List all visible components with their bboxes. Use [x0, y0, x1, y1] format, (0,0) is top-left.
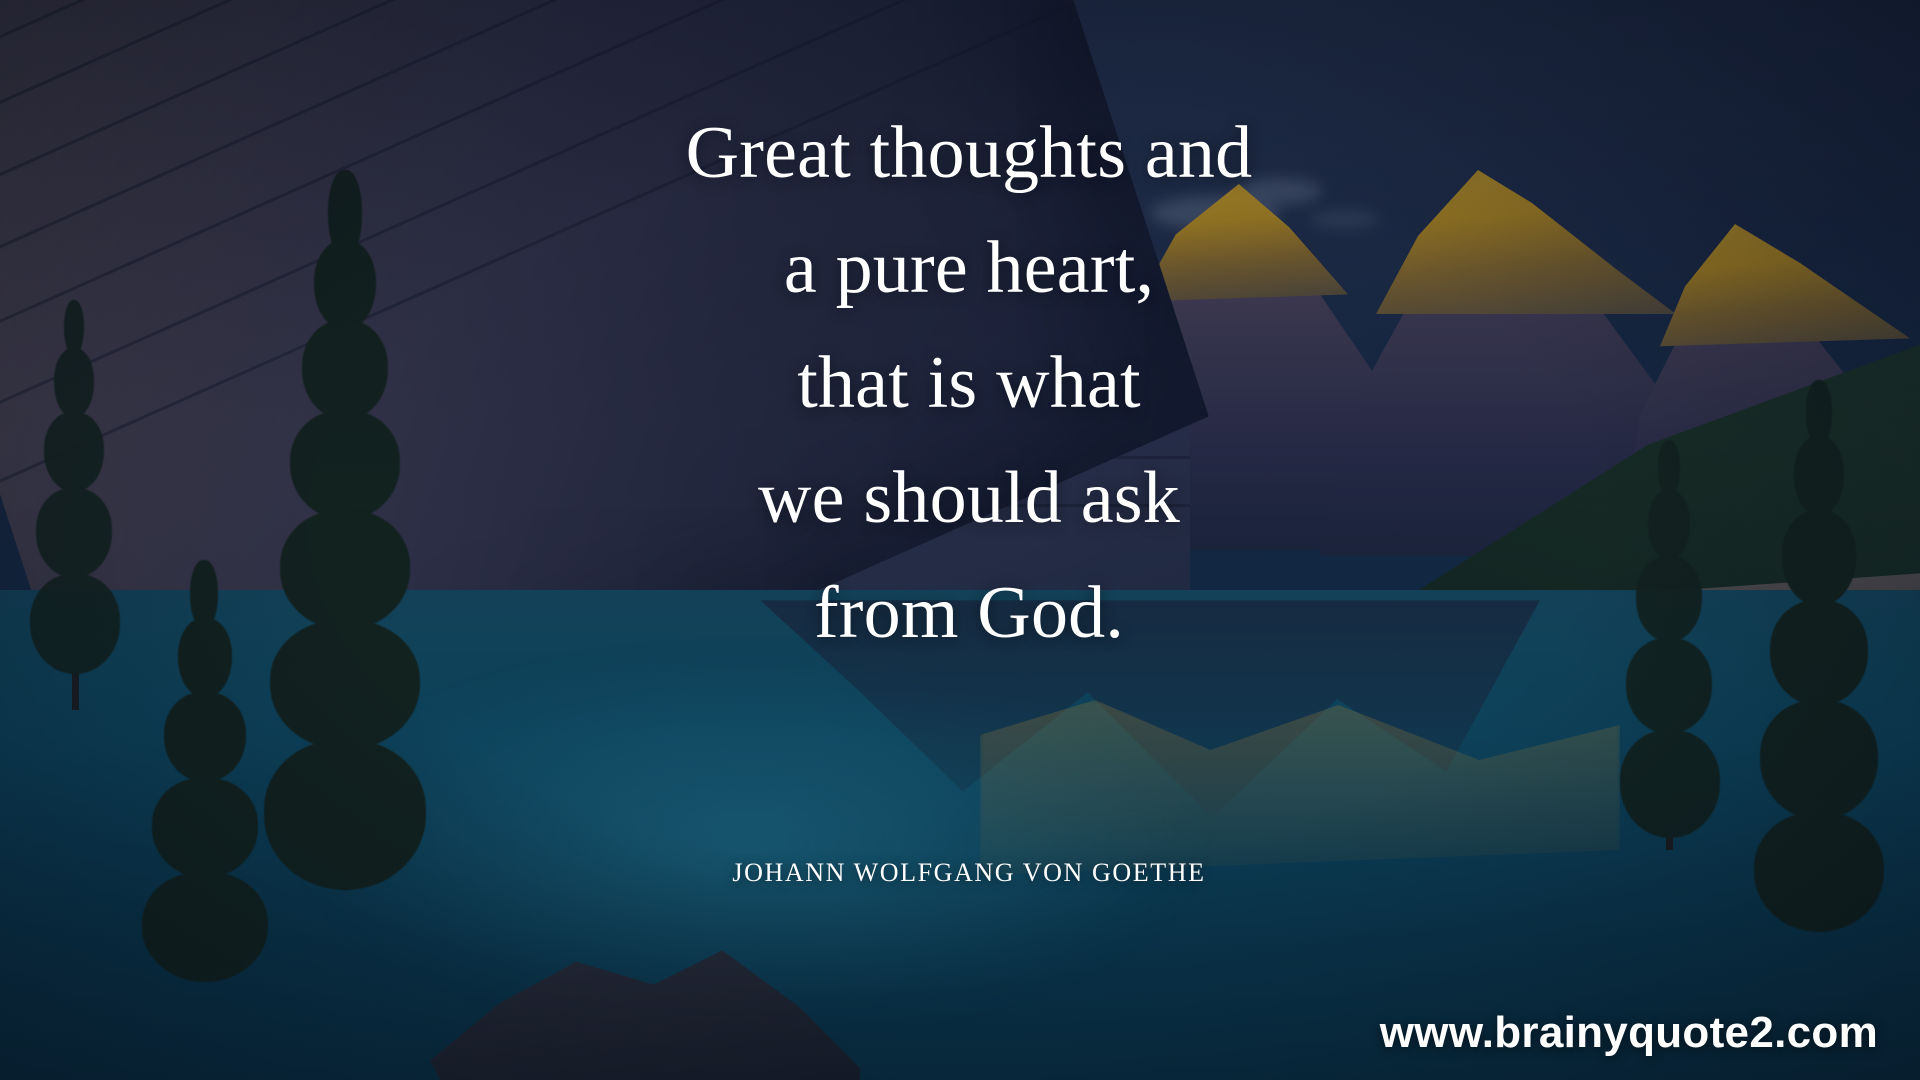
- quote-line: we should ask: [18, 441, 1920, 556]
- quote-text: Great thoughts and a pure heart, that is…: [0, 96, 1920, 671]
- quote-line: Great thoughts and: [18, 96, 1920, 211]
- quote-author: JOHANN WOLFGANG VON GOETHE: [0, 858, 1920, 888]
- quote-card: Great thoughts and a pure heart, that is…: [0, 0, 1920, 1080]
- quote-line: from God.: [18, 556, 1920, 671]
- quote-line: a pure heart,: [18, 211, 1920, 326]
- site-watermark: www.brainyquote2.com: [1380, 1008, 1878, 1058]
- quote-line: that is what: [18, 326, 1920, 441]
